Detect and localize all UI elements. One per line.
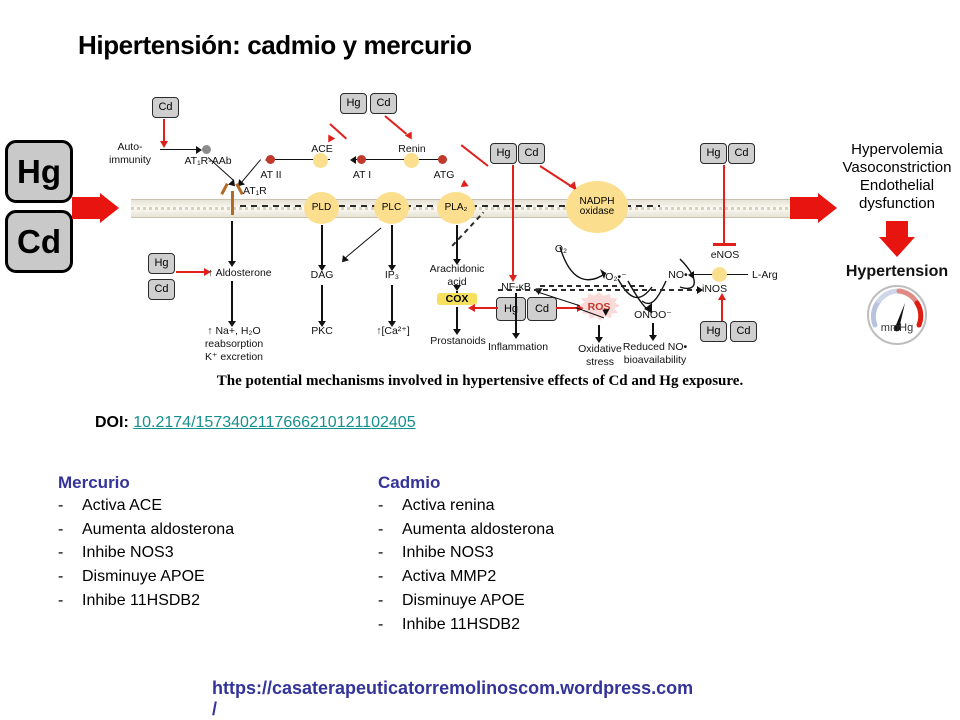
- node-reduced-no-l1: Reduced NO•: [612, 341, 698, 353]
- outcome-line1: Hypervolemia: [836, 141, 958, 158]
- column-cadmio-list: -Activa renina -Aumenta aldosterona -Inh…: [378, 495, 554, 636]
- list-item-label: Disminuye APOE: [402, 590, 525, 613]
- doi-line: DOI: 10.2174/1573402117666210121102405: [95, 414, 416, 432]
- list-item-label: Activa ACE: [82, 495, 162, 518]
- list-item: -Aumenta aldosterona: [378, 519, 554, 542]
- column-mercurio-list: -Activa ACE -Aumenta aldosterona -Inhibe…: [58, 495, 234, 613]
- list-item: -Inhibe NOS3: [378, 542, 554, 565]
- tag-cd-inos: Cd: [730, 321, 757, 342]
- list-item: -Activa renina: [378, 495, 554, 518]
- node-at2: AT II: [245, 169, 297, 181]
- list-item-label: Inhibe 11HSDB2: [82, 590, 200, 613]
- node-na-h2o-l3: K⁺ excretion: [186, 351, 282, 363]
- node-ip3: IP₃: [370, 269, 414, 281]
- list-item: -Activa ACE: [58, 495, 234, 518]
- column-mercurio-heading: Mercurio: [58, 473, 234, 493]
- bullet-dash: -: [58, 519, 82, 542]
- tag-cd-renin: Cd: [370, 93, 397, 114]
- bullet-dash: -: [378, 519, 402, 542]
- node-reduced-no-l2: bioavailability: [612, 354, 698, 366]
- bullet-dash: -: [58, 566, 82, 589]
- bullet-dash: -: [378, 590, 402, 613]
- node-at1: AT I: [336, 169, 388, 181]
- dot-at1: [357, 155, 366, 164]
- node-dag: DAG: [298, 269, 346, 281]
- node-atg: ATG: [418, 169, 470, 181]
- node-na-h2o-l2: reabsorption: [186, 338, 282, 350]
- node-calcium: ↑[Ca²⁺]: [366, 325, 420, 337]
- node-auto-immunity-l2: immunity: [100, 154, 160, 166]
- gauge-icon: [865, 283, 929, 347]
- source-element-cd-box: Cd: [5, 210, 73, 273]
- tag-hg-inos: Hg: [700, 321, 727, 342]
- list-item-label: Inhibe 11HSDB2: [402, 614, 520, 637]
- bullet-dash: -: [58, 590, 82, 613]
- tag-cd-nadph: Cd: [518, 143, 545, 164]
- bullet-dash: -: [378, 542, 402, 565]
- node-at1r: AT₁R: [243, 185, 283, 197]
- node-arachidonic-l1: Arachidonic: [424, 263, 490, 275]
- node-larg: L-Arg: [752, 269, 798, 281]
- footer-url[interactable]: https://casaterapeuticatorremolinoscom.w…: [212, 678, 872, 719]
- tag-cd-aldosterone: Cd: [148, 279, 175, 300]
- list-item-label: Inhibe NOS3: [402, 542, 494, 565]
- dot-atg: [438, 155, 447, 164]
- column-mercurio: Mercurio -Activa ACE -Aumenta aldosteron…: [58, 473, 234, 614]
- node-auto-immunity-l1: Auto-: [100, 141, 160, 153]
- enzyme-nadph-line2: oxidase: [580, 207, 614, 218]
- mechanism-diagram: Hg Cd Cd Auto- immunity AT₁R-AAb Hg Cd: [0, 85, 960, 405]
- list-item: -Disminuye APOE: [378, 590, 554, 613]
- list-item: -Inhibe 11HSDB2: [378, 614, 554, 637]
- node-pkc: PKC: [298, 325, 346, 337]
- list-item: -Inhibe NOS3: [58, 542, 234, 565]
- tag-hg-aldosterone: Hg: [148, 253, 175, 274]
- list-item-label: Activa renina: [402, 495, 495, 518]
- node-aldosterone: ↑ Aldosterone: [208, 267, 308, 279]
- outcome-line2: Vasoconstriction: [836, 159, 958, 176]
- chain-arrowhead-at1: [350, 156, 356, 164]
- column-cadmio: Cadmio -Activa renina -Aumenta aldostero…: [378, 473, 554, 637]
- tag-hg-enos: Hg: [700, 143, 727, 164]
- list-item: -Inhibe 11HSDB2: [58, 590, 234, 613]
- outcome-line4: dysfunction: [836, 195, 958, 212]
- page-title: Hipertensión: cadmio y mercurio: [78, 30, 472, 61]
- list-item-label: Activa MMP2: [402, 566, 496, 589]
- tag-cd-enos: Cd: [728, 143, 755, 164]
- tag-cd-autoimmunity: Cd: [152, 97, 179, 118]
- dot-at1r-aab: [202, 145, 211, 154]
- arrowhead-no: [688, 271, 694, 279]
- list-item: -Disminuye APOE: [58, 566, 234, 589]
- list-item-label: Aumenta aldosterona: [82, 519, 234, 542]
- node-enos: eNOS: [700, 249, 750, 261]
- outcome-line3: Endothelial: [836, 177, 958, 194]
- bullet-dash: -: [58, 495, 82, 518]
- curved-connectors: [530, 225, 710, 325]
- bullet-dash: -: [378, 495, 402, 518]
- list-item-label: Aumenta aldosterona: [402, 519, 554, 542]
- enzyme-pla2: PLA₂: [437, 192, 475, 224]
- source-element-hg-box: Hg: [5, 140, 73, 203]
- dot-nos-enzyme: [712, 267, 727, 282]
- dot-at2: [266, 155, 275, 164]
- bullet-dash: -: [378, 614, 402, 637]
- dot-ace-enzyme: [313, 153, 328, 168]
- figure-caption: The potential mechanisms involved in hyp…: [0, 373, 960, 390]
- node-inflammation: Inflammation: [482, 341, 554, 353]
- doi-label: DOI:: [95, 414, 129, 431]
- enzyme-pld: PLD: [304, 192, 339, 224]
- list-item-label: Disminuye APOE: [82, 566, 205, 589]
- footer-url-line2: /: [212, 699, 217, 719]
- outcome-result: Hypertension: [832, 263, 960, 281]
- slide: Hipertensión: cadmio y mercurio Hg Cd Cd…: [0, 0, 960, 720]
- gauge-unit-label: mmHg: [866, 322, 928, 335]
- dashed-to-inos: [498, 289, 698, 291]
- tag-hg-ace: Hg: [340, 93, 367, 114]
- tag-hg-cox: Hg: [496, 297, 526, 321]
- bullet-dash: -: [378, 566, 402, 589]
- doi-link[interactable]: 10.2174/1573402117666210121102405: [133, 414, 415, 431]
- dot-renin-enzyme: [404, 153, 419, 168]
- list-item-label: Inhibe NOS3: [82, 542, 174, 565]
- list-item: -Activa MMP2: [378, 566, 554, 589]
- list-item: -Aumenta aldosterona: [58, 519, 234, 542]
- footer-url-line1: https://casaterapeuticatorremolinoscom.w…: [212, 678, 693, 698]
- bullet-dash: -: [58, 542, 82, 565]
- column-cadmio-heading: Cadmio: [378, 473, 554, 493]
- tag-hg-pla2: Hg: [490, 143, 517, 164]
- node-na-h2o-l1: ↑ Na+, H₂O: [186, 325, 282, 337]
- enzyme-plc: PLC: [374, 192, 409, 224]
